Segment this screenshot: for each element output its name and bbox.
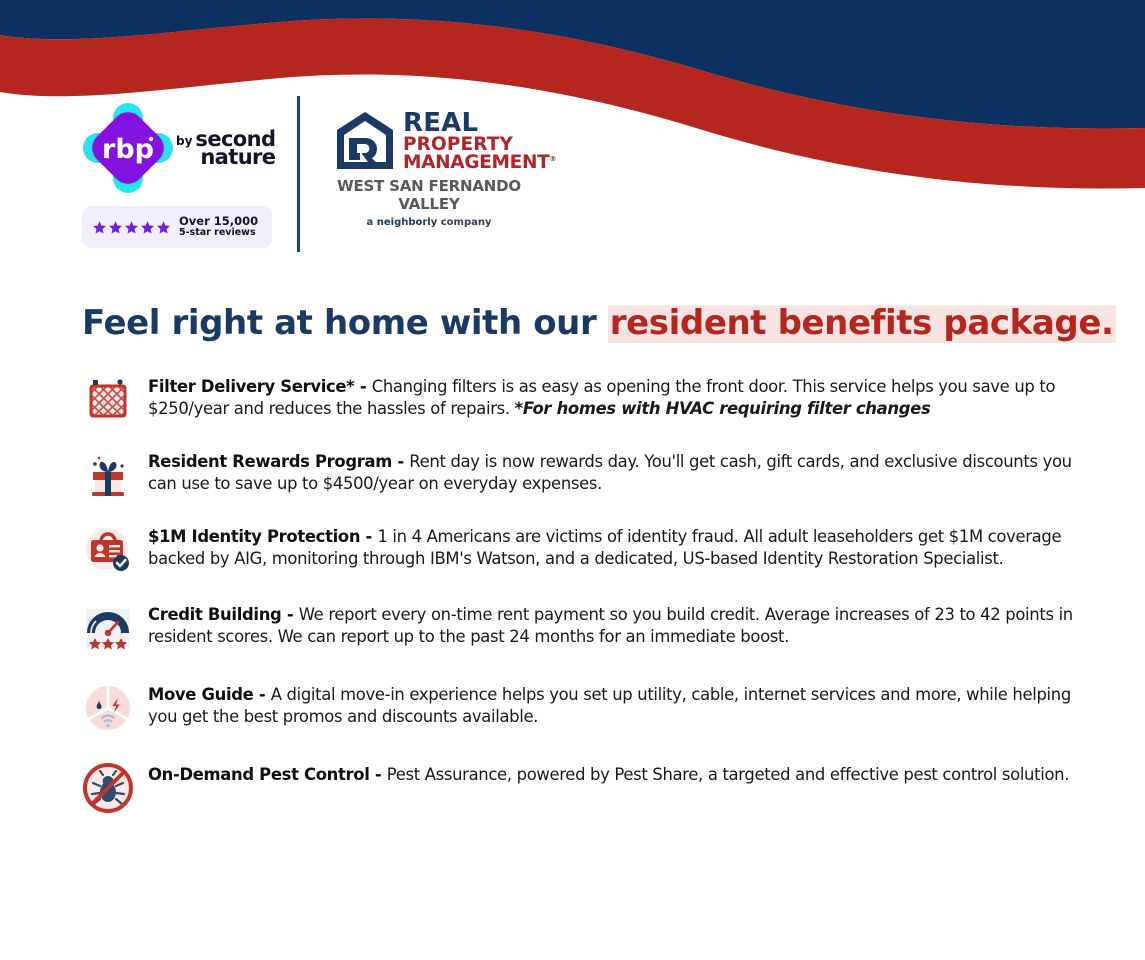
- benefit-dash: -: [370, 765, 387, 784]
- rpm-region-label: WEST SAN FERNANDO VALLEY: [334, 177, 524, 213]
- rbp-logo-block: rbp by second nature: [82, 96, 278, 248]
- benefit-title: On-Demand Pest Control: [148, 765, 370, 784]
- benefit-item: Credit Building - We report every on-tim…: [80, 600, 1080, 656]
- neighborly-suffix: company: [437, 217, 491, 228]
- benefit-item: $1M Identity Protection - 1 in 4 America…: [80, 522, 1080, 578]
- benefit-dash: -: [253, 685, 270, 704]
- benefit-body: A digital move-in experience helps you s…: [148, 685, 1071, 726]
- benefit-title: Move Guide: [148, 685, 253, 704]
- utilities-circle-icon: [80, 680, 136, 736]
- rbp-mark-icon: rbp: [82, 102, 174, 194]
- benefit-dash: -: [360, 527, 377, 546]
- benefit-text: Filter Delivery Service* - Changing filt…: [136, 372, 1080, 419]
- rpm-registered-mark: ®: [550, 155, 557, 163]
- page-headline: Feel right at home with our resident ben…: [82, 303, 1082, 343]
- neighborly-tagline: a neighborly company: [334, 217, 524, 228]
- no-pest-icon: [80, 760, 136, 816]
- benefit-text: On-Demand Pest Control - Pest Assurance,…: [136, 760, 1080, 786]
- logo-divider: [297, 96, 300, 252]
- benefit-note: *For homes with HVAC requiring filter ch…: [515, 399, 931, 418]
- neighborly-brand: neighborly: [377, 217, 438, 228]
- benefit-text: $1M Identity Protection - 1 in 4 America…: [136, 522, 1080, 569]
- badge-review-label: 5-star reviews: [179, 228, 258, 239]
- benefit-body: Pest Assurance, powered by Pest Share, a…: [387, 765, 1069, 784]
- benefit-dash: -: [354, 377, 371, 396]
- neighborly-prefix: a: [367, 217, 377, 228]
- benefit-item: Resident Rewards Program - Rent day is n…: [80, 447, 1080, 503]
- filter-icon: [80, 372, 136, 428]
- benefit-text: Credit Building - We report every on-tim…: [136, 600, 1080, 647]
- benefit-text: Resident Rewards Program - Rent day is n…: [136, 447, 1080, 494]
- star-icon: [140, 220, 155, 235]
- rbp-by-label: by: [176, 134, 192, 148]
- star-icon: [92, 220, 107, 235]
- rpm-word-management: MANAGEMENT: [403, 152, 550, 173]
- benefit-dash: -: [392, 452, 409, 471]
- star-icon: [124, 220, 139, 235]
- rpm-house-r-icon: [334, 110, 396, 172]
- star-icon: [156, 220, 171, 235]
- credit-gauge-icon: [80, 600, 136, 656]
- svg-text:rbp: rbp: [102, 134, 154, 165]
- benefit-text: Move Guide - A digital move-in experienc…: [136, 680, 1080, 727]
- benefit-item: Filter Delivery Service* - Changing filt…: [80, 372, 1080, 428]
- headline-lead: Feel right at home with our: [82, 303, 608, 343]
- benefit-title: Filter Delivery Service*: [148, 377, 354, 396]
- benefit-dash: -: [281, 605, 298, 624]
- id-badge-shield-icon: [80, 522, 136, 578]
- headline-emphasis: resident benefits package.: [608, 303, 1116, 343]
- second-nature-line2: nature: [195, 148, 275, 166]
- star-icon: [108, 220, 123, 235]
- benefit-title: Resident Rewards Program: [148, 452, 392, 471]
- benefit-item: On-Demand Pest Control - Pest Assurance,…: [80, 760, 1080, 816]
- logo-row: rbp by second nature: [0, 96, 1145, 256]
- benefit-title: Credit Building: [148, 605, 281, 624]
- rpm-word-real: REAL: [403, 111, 556, 136]
- gift-icon: [80, 447, 136, 503]
- benefit-item: Move Guide - A digital move-in experienc…: [80, 680, 1080, 736]
- benefits-list: Filter Delivery Service* - Changing filt…: [80, 372, 1080, 838]
- benefit-title: $1M Identity Protection: [148, 527, 360, 546]
- star-rating-icons: [92, 220, 171, 235]
- rpm-logo-block: REAL PROPERTY MANAGEMENT® WEST SAN FERNA…: [334, 110, 524, 228]
- five-star-reviews-badge: Over 15,000 5-star reviews: [82, 206, 272, 248]
